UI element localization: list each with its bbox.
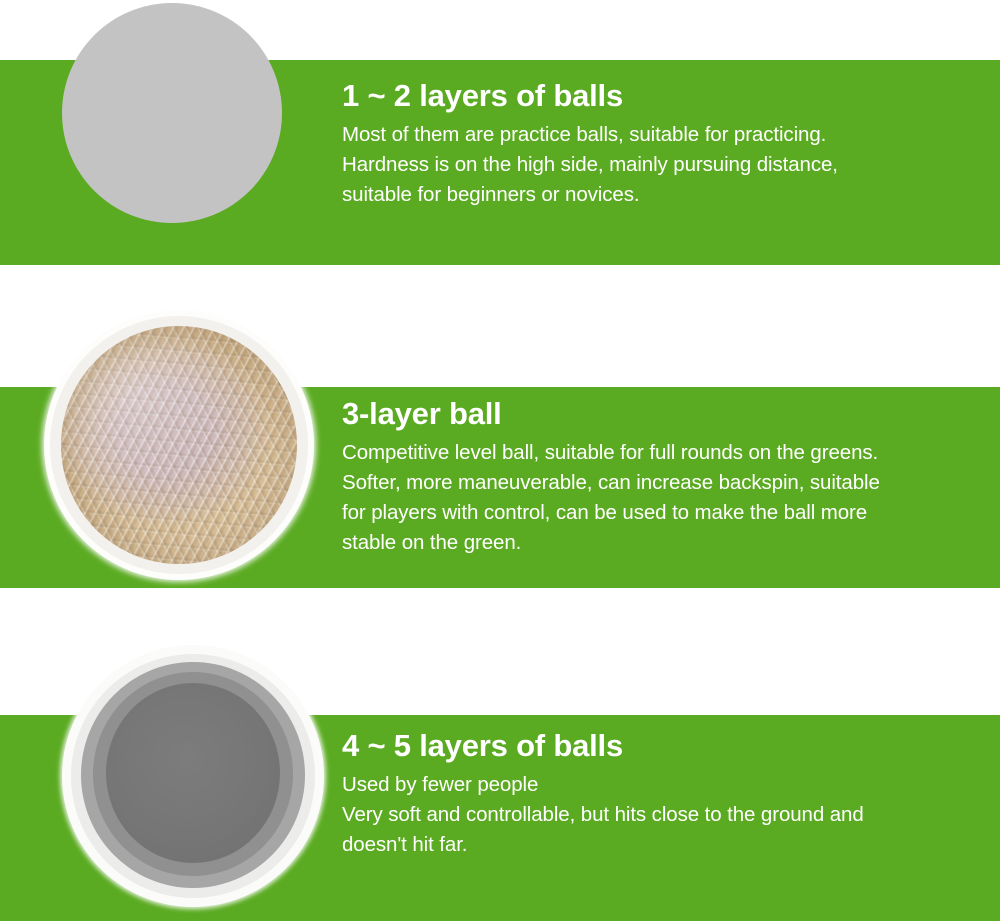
section-3-title: 4 ~ 5 layers of balls bbox=[342, 728, 982, 764]
section-1-body-line-3: suitable for beginners or novices. bbox=[342, 180, 982, 210]
golf-ball-4-5-layer-center bbox=[106, 683, 280, 863]
section-3-body-line-1: Used by fewer people bbox=[342, 770, 982, 800]
section-2-body: Competitive level ball, suitable for ful… bbox=[342, 438, 982, 558]
section-1-title: 1 ~ 2 layers of balls bbox=[342, 78, 982, 114]
section-2-body-line-3: for players with control, can be used to… bbox=[342, 498, 982, 528]
section-2-body-line-2: Softer, more maneuverable, can increase … bbox=[342, 468, 982, 498]
section-2-body-line-1: Competitive level ball, suitable for ful… bbox=[342, 438, 982, 468]
golf-ball-4-5-layer-cutaway-image bbox=[62, 645, 324, 907]
golf-ball-3-layer-cutaway-image bbox=[44, 310, 314, 580]
golf-ball-1-2-layer-image bbox=[62, 3, 282, 223]
section-2-body-line-4: stable on the green. bbox=[342, 528, 982, 558]
section-1-body-line-2: Hardness is on the high side, mainly pur… bbox=[342, 150, 982, 180]
section-3-body-line-3: doesn't hit far. bbox=[342, 830, 982, 860]
section-1-text-block: 1 ~ 2 layers of balls Most of them are p… bbox=[342, 78, 982, 210]
section-1-body-line-1: Most of them are practice balls, suitabl… bbox=[342, 120, 982, 150]
golf-ball-layers-infographic: 1 ~ 2 layers of balls Most of them are p… bbox=[0, 0, 1000, 921]
section-1-body: Most of them are practice balls, suitabl… bbox=[342, 120, 982, 210]
golf-ball-3-layer-core bbox=[61, 326, 297, 564]
section-3-body-line-2: Very soft and controllable, but hits clo… bbox=[342, 800, 982, 830]
section-2-text-block: 3-layer ball Competitive level ball, sui… bbox=[342, 396, 982, 558]
section-3-text-block: 4 ~ 5 layers of balls Used by fewer peop… bbox=[342, 728, 982, 860]
section-3-body: Used by fewer people Very soft and contr… bbox=[342, 770, 982, 860]
section-2-title: 3-layer ball bbox=[342, 396, 982, 432]
